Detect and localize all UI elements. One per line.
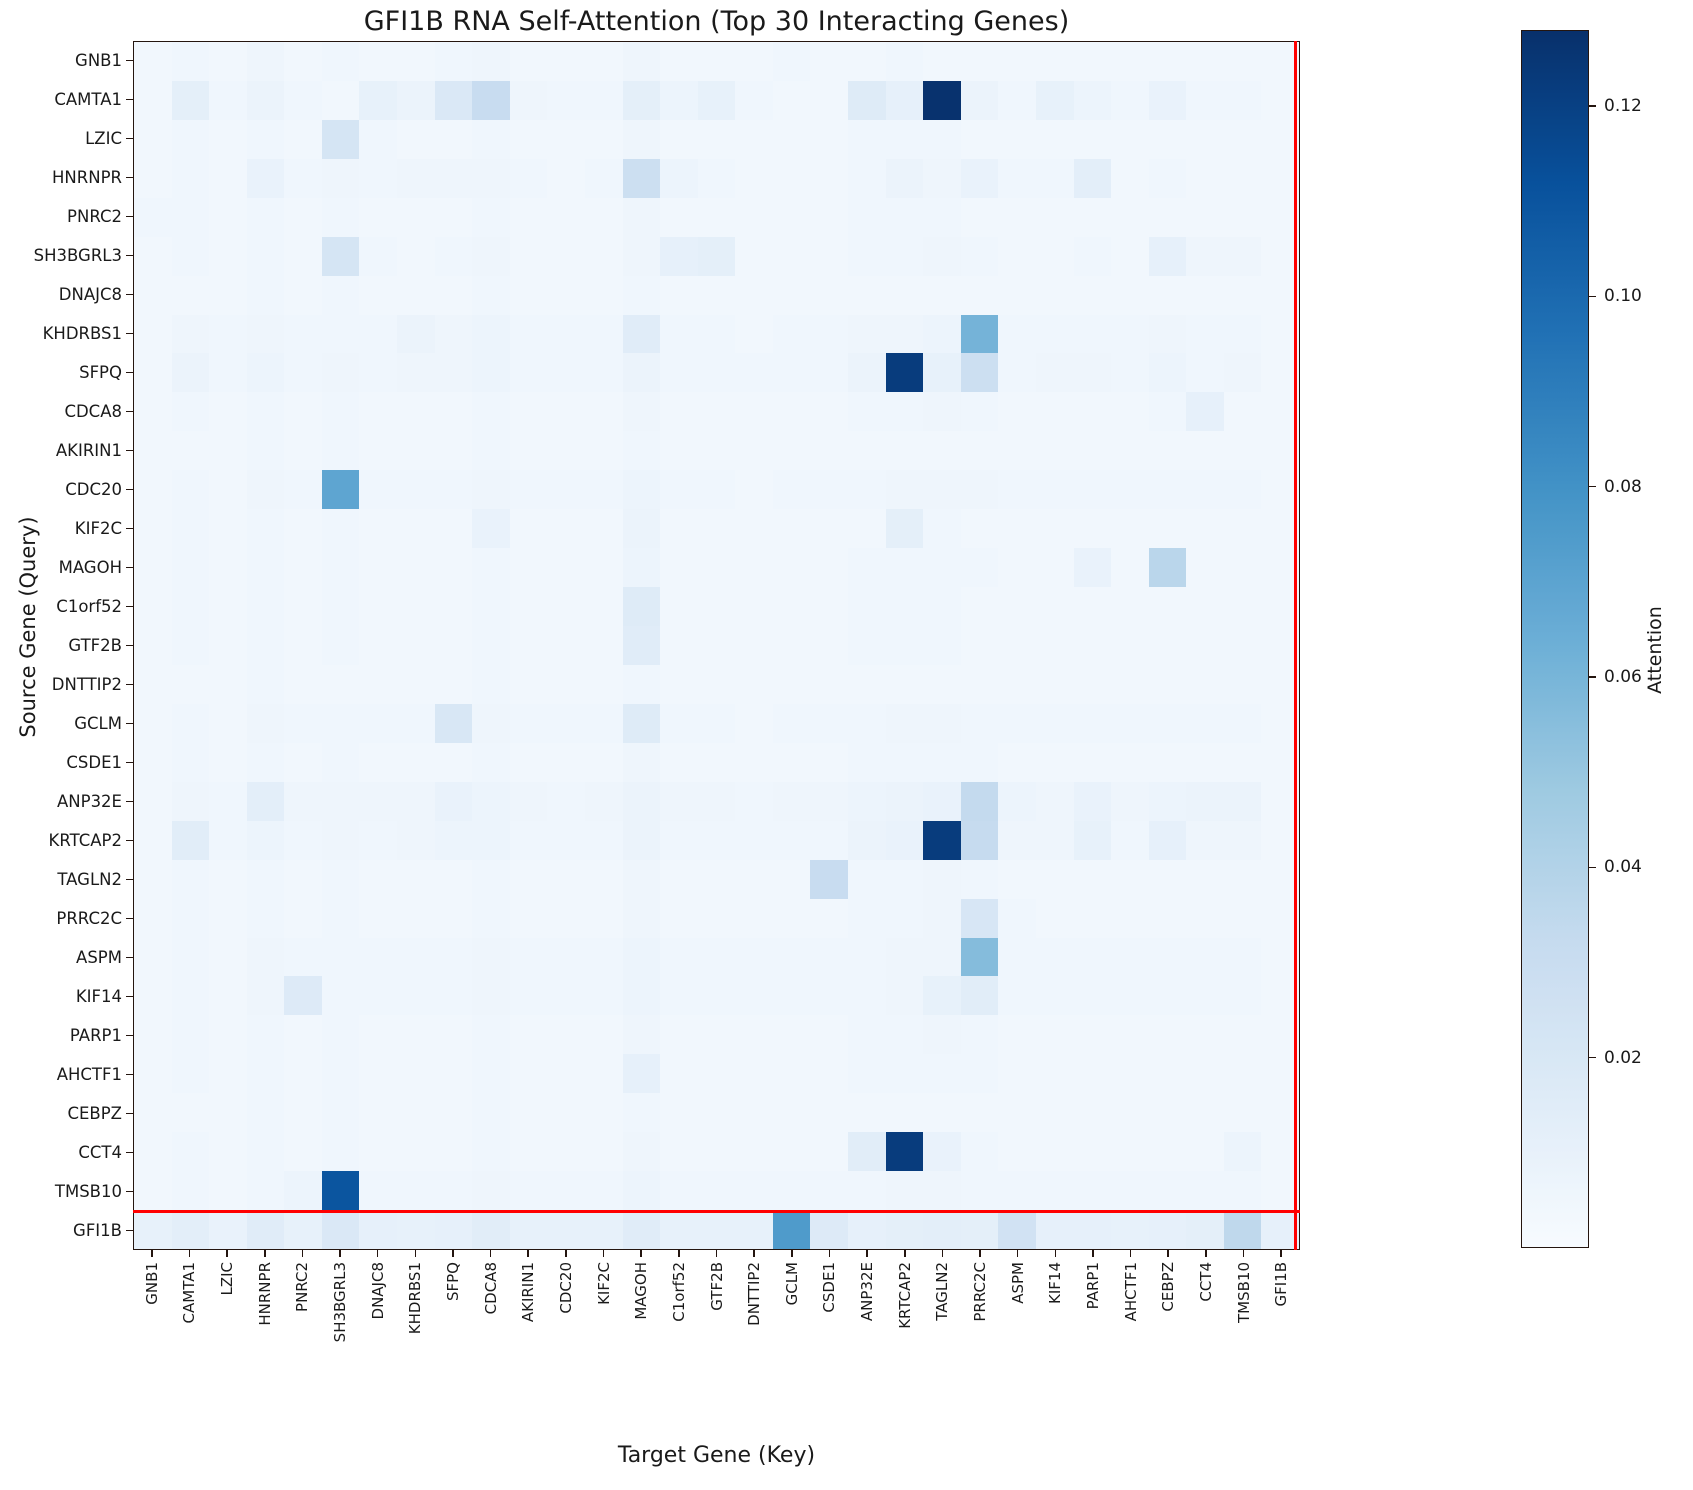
heatmap-cell[interactable] bbox=[1186, 237, 1224, 276]
heatmap-cell[interactable] bbox=[472, 938, 510, 977]
heatmap-cell[interactable] bbox=[1224, 120, 1262, 159]
heatmap-cell[interactable] bbox=[435, 470, 473, 509]
heatmap-cell[interactable] bbox=[284, 392, 322, 431]
heatmap-cell[interactable] bbox=[247, 1015, 285, 1054]
heatmap-cell[interactable] bbox=[547, 1015, 585, 1054]
heatmap-cell[interactable] bbox=[961, 470, 999, 509]
heatmap-cell[interactable] bbox=[923, 665, 961, 704]
heatmap-cell[interactable] bbox=[1111, 1093, 1149, 1132]
heatmap-cell[interactable] bbox=[359, 704, 397, 743]
heatmap-cell[interactable] bbox=[134, 276, 172, 315]
heatmap-cell[interactable] bbox=[1074, 821, 1112, 860]
heatmap-cell[interactable] bbox=[322, 81, 360, 120]
heatmap-cell[interactable] bbox=[810, 587, 848, 626]
heatmap-cell[interactable] bbox=[848, 1171, 886, 1210]
heatmap-cell[interactable] bbox=[322, 548, 360, 587]
heatmap-cell[interactable] bbox=[1224, 938, 1262, 977]
heatmap-cell[interactable] bbox=[172, 976, 210, 1015]
heatmap-cell[interactable] bbox=[623, 626, 661, 665]
heatmap-cell[interactable] bbox=[472, 237, 510, 276]
heatmap-cell[interactable] bbox=[735, 509, 773, 548]
heatmap-cell[interactable] bbox=[1111, 509, 1149, 548]
heatmap-cell[interactable] bbox=[510, 782, 548, 821]
heatmap-cell[interactable] bbox=[397, 392, 435, 431]
heatmap-cell[interactable] bbox=[134, 42, 172, 81]
heatmap-cell[interactable] bbox=[435, 509, 473, 548]
heatmap-cell[interactable] bbox=[1149, 1054, 1187, 1093]
heatmap-cell[interactable] bbox=[134, 665, 172, 704]
heatmap-cell[interactable] bbox=[1149, 860, 1187, 899]
heatmap-cell[interactable] bbox=[1186, 276, 1224, 315]
heatmap-cell[interactable] bbox=[735, 1132, 773, 1171]
heatmap-cell[interactable] bbox=[284, 548, 322, 587]
heatmap-cell[interactable] bbox=[585, 860, 623, 899]
heatmap-cell[interactable] bbox=[998, 198, 1036, 237]
heatmap-cell[interactable] bbox=[547, 120, 585, 159]
heatmap-cell[interactable] bbox=[1149, 1093, 1187, 1132]
heatmap-cell[interactable] bbox=[247, 821, 285, 860]
heatmap-cell[interactable] bbox=[810, 237, 848, 276]
heatmap-cell[interactable] bbox=[172, 1132, 210, 1171]
heatmap-cell[interactable] bbox=[1074, 1171, 1112, 1210]
heatmap-cell[interactable] bbox=[1074, 860, 1112, 899]
heatmap-cell[interactable] bbox=[1149, 392, 1187, 431]
heatmap-cell[interactable] bbox=[547, 315, 585, 354]
heatmap-cell[interactable] bbox=[1036, 743, 1074, 782]
heatmap-cell[interactable] bbox=[1224, 470, 1262, 509]
heatmap-cell[interactable] bbox=[172, 743, 210, 782]
heatmap-cell[interactable] bbox=[1186, 509, 1224, 548]
heatmap-cell[interactable] bbox=[1111, 120, 1149, 159]
heatmap-cell[interactable] bbox=[209, 821, 247, 860]
heatmap-cell[interactable] bbox=[585, 899, 623, 938]
heatmap-cell[interactable] bbox=[1149, 821, 1187, 860]
heatmap-cell[interactable] bbox=[172, 159, 210, 198]
heatmap-cell[interactable] bbox=[209, 198, 247, 237]
heatmap-cell[interactable] bbox=[698, 743, 736, 782]
heatmap-cell[interactable] bbox=[735, 353, 773, 392]
heatmap-cell[interactable] bbox=[1111, 587, 1149, 626]
heatmap-cell[interactable] bbox=[698, 42, 736, 81]
heatmap-cell[interactable] bbox=[998, 899, 1036, 938]
heatmap-cell[interactable] bbox=[585, 626, 623, 665]
heatmap-cell[interactable] bbox=[134, 704, 172, 743]
heatmap-cell[interactable] bbox=[247, 938, 285, 977]
heatmap-cell[interactable] bbox=[284, 353, 322, 392]
heatmap-cell[interactable] bbox=[1186, 42, 1224, 81]
heatmap-cell[interactable] bbox=[284, 821, 322, 860]
heatmap-cell[interactable] bbox=[961, 1210, 999, 1249]
heatmap-cell[interactable] bbox=[1149, 626, 1187, 665]
heatmap-cell[interactable] bbox=[773, 315, 811, 354]
heatmap-cell[interactable] bbox=[660, 120, 698, 159]
heatmap-cell[interactable] bbox=[660, 159, 698, 198]
heatmap-cell[interactable] bbox=[284, 665, 322, 704]
heatmap-cell[interactable] bbox=[1224, 821, 1262, 860]
heatmap-cell[interactable] bbox=[359, 899, 397, 938]
heatmap-cell[interactable] bbox=[585, 938, 623, 977]
heatmap-cell[interactable] bbox=[435, 276, 473, 315]
heatmap-cell[interactable] bbox=[1074, 743, 1112, 782]
heatmap-cell[interactable] bbox=[998, 938, 1036, 977]
heatmap-cell[interactable] bbox=[1074, 392, 1112, 431]
heatmap-cell[interactable] bbox=[923, 1132, 961, 1171]
heatmap-cell[interactable] bbox=[623, 42, 661, 81]
heatmap-cell[interactable] bbox=[1111, 548, 1149, 587]
heatmap-cell[interactable] bbox=[998, 1093, 1036, 1132]
heatmap-cell[interactable] bbox=[209, 782, 247, 821]
heatmap-cell[interactable] bbox=[209, 1093, 247, 1132]
heatmap-cell[interactable] bbox=[623, 431, 661, 470]
heatmap-cell[interactable] bbox=[585, 976, 623, 1015]
heatmap-cell[interactable] bbox=[961, 782, 999, 821]
heatmap-cell[interactable] bbox=[134, 120, 172, 159]
heatmap-cell[interactable] bbox=[1036, 626, 1074, 665]
heatmap-cell[interactable] bbox=[1074, 1054, 1112, 1093]
heatmap-cell[interactable] bbox=[510, 509, 548, 548]
heatmap-cell[interactable] bbox=[209, 431, 247, 470]
heatmap-cell[interactable] bbox=[359, 1015, 397, 1054]
heatmap-cell[interactable] bbox=[810, 392, 848, 431]
heatmap-cell[interactable] bbox=[172, 899, 210, 938]
heatmap-cell[interactable] bbox=[998, 237, 1036, 276]
heatmap-cell[interactable] bbox=[886, 237, 924, 276]
heatmap-cell[interactable] bbox=[547, 470, 585, 509]
heatmap-cell[interactable] bbox=[472, 276, 510, 315]
heatmap-cell[interactable] bbox=[585, 821, 623, 860]
heatmap-cell[interactable] bbox=[848, 899, 886, 938]
heatmap-cell[interactable] bbox=[810, 120, 848, 159]
heatmap-cell[interactable] bbox=[1149, 1210, 1187, 1249]
heatmap-cell[interactable] bbox=[172, 431, 210, 470]
heatmap-cell[interactable] bbox=[1074, 782, 1112, 821]
heatmap-cell[interactable] bbox=[134, 548, 172, 587]
heatmap-cell[interactable] bbox=[660, 743, 698, 782]
heatmap-cell[interactable] bbox=[773, 392, 811, 431]
heatmap-cell[interactable] bbox=[1074, 470, 1112, 509]
heatmap-cell[interactable] bbox=[397, 509, 435, 548]
heatmap-cell[interactable] bbox=[886, 899, 924, 938]
heatmap-cell[interactable] bbox=[623, 1054, 661, 1093]
heatmap-cell[interactable] bbox=[848, 1093, 886, 1132]
heatmap-cell[interactable] bbox=[1224, 1054, 1262, 1093]
heatmap-cell[interactable] bbox=[247, 1054, 285, 1093]
heatmap-cell[interactable] bbox=[247, 782, 285, 821]
heatmap-cell[interactable] bbox=[660, 860, 698, 899]
heatmap-cell[interactable] bbox=[998, 120, 1036, 159]
heatmap-cell[interactable] bbox=[623, 1015, 661, 1054]
heatmap-cell[interactable] bbox=[1111, 198, 1149, 237]
heatmap-cell[interactable] bbox=[585, 237, 623, 276]
heatmap-cell[interactable] bbox=[810, 1054, 848, 1093]
heatmap-cell[interactable] bbox=[547, 353, 585, 392]
heatmap-cell[interactable] bbox=[359, 470, 397, 509]
heatmap-cell[interactable] bbox=[735, 860, 773, 899]
heatmap-cell[interactable] bbox=[886, 1210, 924, 1249]
heatmap-cell[interactable] bbox=[810, 276, 848, 315]
heatmap-cell[interactable] bbox=[1149, 42, 1187, 81]
heatmap-cell[interactable] bbox=[1074, 976, 1112, 1015]
heatmap-cell[interactable] bbox=[660, 392, 698, 431]
heatmap-cell[interactable] bbox=[886, 548, 924, 587]
heatmap-cell[interactable] bbox=[886, 198, 924, 237]
heatmap-cell[interactable] bbox=[359, 1054, 397, 1093]
heatmap-cell[interactable] bbox=[773, 587, 811, 626]
heatmap-cell[interactable] bbox=[397, 626, 435, 665]
heatmap-cell[interactable] bbox=[923, 548, 961, 587]
heatmap-cell[interactable] bbox=[1186, 120, 1224, 159]
heatmap-cell[interactable] bbox=[1149, 587, 1187, 626]
heatmap-cell[interactable] bbox=[848, 1210, 886, 1249]
heatmap-cell[interactable] bbox=[359, 120, 397, 159]
heatmap-cell[interactable] bbox=[359, 159, 397, 198]
heatmap-cell[interactable] bbox=[284, 1054, 322, 1093]
heatmap-cell[interactable] bbox=[247, 120, 285, 159]
heatmap-cell[interactable] bbox=[660, 782, 698, 821]
heatmap-cell[interactable] bbox=[1036, 860, 1074, 899]
heatmap-cell[interactable] bbox=[209, 120, 247, 159]
heatmap-cell[interactable] bbox=[923, 704, 961, 743]
heatmap-cell[interactable] bbox=[773, 899, 811, 938]
heatmap-cell[interactable] bbox=[547, 276, 585, 315]
heatmap-cell[interactable] bbox=[1111, 392, 1149, 431]
heatmap-cell[interactable] bbox=[998, 81, 1036, 120]
heatmap-cell[interactable] bbox=[1186, 1015, 1224, 1054]
heatmap-cell[interactable] bbox=[1036, 938, 1074, 977]
heatmap-cell[interactable] bbox=[773, 860, 811, 899]
heatmap-cell[interactable] bbox=[585, 1132, 623, 1171]
heatmap-cell[interactable] bbox=[660, 509, 698, 548]
heatmap-cell[interactable] bbox=[998, 548, 1036, 587]
heatmap-cell[interactable] bbox=[359, 548, 397, 587]
heatmap-cell[interactable] bbox=[472, 470, 510, 509]
heatmap-cell[interactable] bbox=[547, 198, 585, 237]
heatmap-cell[interactable] bbox=[623, 899, 661, 938]
heatmap-cell[interactable] bbox=[1074, 353, 1112, 392]
heatmap-cell[interactable] bbox=[1074, 1093, 1112, 1132]
heatmap-cell[interactable] bbox=[1036, 509, 1074, 548]
heatmap-cell[interactable] bbox=[472, 899, 510, 938]
heatmap-cell[interactable] bbox=[359, 782, 397, 821]
heatmap-cell[interactable] bbox=[322, 42, 360, 81]
heatmap-cell[interactable] bbox=[886, 159, 924, 198]
heatmap-cell[interactable] bbox=[698, 120, 736, 159]
heatmap-cell[interactable] bbox=[172, 821, 210, 860]
heatmap-cell[interactable] bbox=[1036, 237, 1074, 276]
heatmap-cell[interactable] bbox=[172, 353, 210, 392]
heatmap-cell[interactable] bbox=[547, 548, 585, 587]
heatmap-cell[interactable] bbox=[773, 782, 811, 821]
heatmap-cell[interactable] bbox=[1224, 976, 1262, 1015]
heatmap-cell[interactable] bbox=[359, 1132, 397, 1171]
heatmap-cell[interactable] bbox=[810, 860, 848, 899]
heatmap-cell[interactable] bbox=[209, 860, 247, 899]
heatmap-cell[interactable] bbox=[1186, 821, 1224, 860]
heatmap-cell[interactable] bbox=[247, 470, 285, 509]
heatmap-cell[interactable] bbox=[435, 237, 473, 276]
heatmap-cell[interactable] bbox=[472, 1171, 510, 1210]
heatmap-cell[interactable] bbox=[1224, 860, 1262, 899]
heatmap-cell[interactable] bbox=[209, 42, 247, 81]
heatmap-cell[interactable] bbox=[510, 1054, 548, 1093]
heatmap-cell[interactable] bbox=[209, 392, 247, 431]
heatmap-cell[interactable] bbox=[735, 938, 773, 977]
heatmap-cell[interactable] bbox=[773, 1093, 811, 1132]
heatmap-cell[interactable] bbox=[209, 237, 247, 276]
heatmap-cell[interactable] bbox=[510, 42, 548, 81]
heatmap-cell[interactable] bbox=[961, 704, 999, 743]
heatmap-cell[interactable] bbox=[1074, 1015, 1112, 1054]
heatmap-cell[interactable] bbox=[1036, 159, 1074, 198]
heatmap-cell[interactable] bbox=[547, 431, 585, 470]
heatmap-cell[interactable] bbox=[1036, 120, 1074, 159]
heatmap-cell[interactable] bbox=[397, 159, 435, 198]
heatmap-cell[interactable] bbox=[172, 42, 210, 81]
heatmap-cell[interactable] bbox=[247, 1093, 285, 1132]
heatmap-cell[interactable] bbox=[435, 1132, 473, 1171]
heatmap-cell[interactable] bbox=[547, 159, 585, 198]
heatmap-cell[interactable] bbox=[397, 860, 435, 899]
heatmap-cell[interactable] bbox=[472, 1054, 510, 1093]
heatmap-cell[interactable] bbox=[510, 159, 548, 198]
heatmap-cell[interactable] bbox=[472, 860, 510, 899]
heatmap-cell[interactable] bbox=[923, 938, 961, 977]
heatmap-cell[interactable] bbox=[585, 120, 623, 159]
heatmap-cell[interactable] bbox=[359, 81, 397, 120]
heatmap-cell[interactable] bbox=[247, 1210, 285, 1249]
heatmap-cell[interactable] bbox=[886, 353, 924, 392]
heatmap-cell[interactable] bbox=[848, 1132, 886, 1171]
heatmap-cell[interactable] bbox=[886, 704, 924, 743]
heatmap-cell[interactable] bbox=[585, 509, 623, 548]
heatmap-cell[interactable] bbox=[134, 860, 172, 899]
heatmap-cell[interactable] bbox=[209, 159, 247, 198]
heatmap-cell[interactable] bbox=[660, 1054, 698, 1093]
heatmap-cell[interactable] bbox=[773, 548, 811, 587]
heatmap-cell[interactable] bbox=[961, 976, 999, 1015]
heatmap-cell[interactable] bbox=[848, 1054, 886, 1093]
heatmap-cell[interactable] bbox=[472, 120, 510, 159]
heatmap-cell[interactable] bbox=[1224, 81, 1262, 120]
heatmap-cell[interactable] bbox=[698, 1171, 736, 1210]
heatmap-cell[interactable] bbox=[1149, 1171, 1187, 1210]
heatmap-cell[interactable] bbox=[172, 860, 210, 899]
heatmap-cell[interactable] bbox=[886, 743, 924, 782]
heatmap-cell[interactable] bbox=[1036, 81, 1074, 120]
heatmap-cell[interactable] bbox=[735, 665, 773, 704]
heatmap-cell[interactable] bbox=[547, 1210, 585, 1249]
heatmap-cell[interactable] bbox=[435, 704, 473, 743]
heatmap-cell[interactable] bbox=[397, 120, 435, 159]
heatmap-cell[interactable] bbox=[585, 198, 623, 237]
heatmap-cell[interactable] bbox=[886, 81, 924, 120]
heatmap-cell[interactable] bbox=[1186, 860, 1224, 899]
heatmap-cell[interactable] bbox=[998, 1210, 1036, 1249]
heatmap-cell[interactable] bbox=[472, 1210, 510, 1249]
heatmap-cell[interactable] bbox=[322, 626, 360, 665]
heatmap-cell[interactable] bbox=[397, 198, 435, 237]
heatmap-cell[interactable] bbox=[923, 1015, 961, 1054]
heatmap-cell[interactable] bbox=[247, 1132, 285, 1171]
heatmap-cell[interactable] bbox=[209, 743, 247, 782]
heatmap-cell[interactable] bbox=[397, 431, 435, 470]
heatmap-cell[interactable] bbox=[585, 392, 623, 431]
heatmap-cell[interactable] bbox=[209, 548, 247, 587]
heatmap-cell[interactable] bbox=[1224, 237, 1262, 276]
heatmap-cell[interactable] bbox=[359, 431, 397, 470]
heatmap-cell[interactable] bbox=[510, 704, 548, 743]
heatmap-cell[interactable] bbox=[1224, 353, 1262, 392]
heatmap-cell[interactable] bbox=[810, 938, 848, 977]
heatmap-cell[interactable] bbox=[660, 821, 698, 860]
heatmap-cell[interactable] bbox=[773, 626, 811, 665]
heatmap-cell[interactable] bbox=[1224, 509, 1262, 548]
heatmap-cell[interactable] bbox=[1186, 353, 1224, 392]
heatmap-cell[interactable] bbox=[623, 198, 661, 237]
heatmap-cell[interactable] bbox=[172, 276, 210, 315]
heatmap-cell[interactable] bbox=[810, 821, 848, 860]
heatmap-cell[interactable] bbox=[359, 587, 397, 626]
heatmap-cell[interactable] bbox=[1111, 470, 1149, 509]
heatmap-cell[interactable] bbox=[623, 704, 661, 743]
heatmap-cell[interactable] bbox=[172, 198, 210, 237]
heatmap-cell[interactable] bbox=[1074, 198, 1112, 237]
heatmap-cell[interactable] bbox=[1149, 431, 1187, 470]
heatmap-cell[interactable] bbox=[172, 782, 210, 821]
heatmap-cell[interactable] bbox=[1224, 587, 1262, 626]
heatmap-cell[interactable] bbox=[435, 587, 473, 626]
heatmap-cell[interactable] bbox=[510, 120, 548, 159]
heatmap-cell[interactable] bbox=[1149, 976, 1187, 1015]
heatmap-cell[interactable] bbox=[886, 821, 924, 860]
heatmap-cell[interactable] bbox=[623, 548, 661, 587]
heatmap-cell[interactable] bbox=[1186, 782, 1224, 821]
heatmap-cell[interactable] bbox=[172, 548, 210, 587]
heatmap-cell[interactable] bbox=[1074, 81, 1112, 120]
heatmap-cell[interactable] bbox=[134, 81, 172, 120]
heatmap-cell[interactable] bbox=[886, 42, 924, 81]
heatmap-cell[interactable] bbox=[435, 353, 473, 392]
heatmap-cell[interactable] bbox=[1186, 587, 1224, 626]
heatmap-cell[interactable] bbox=[284, 743, 322, 782]
heatmap-cell[interactable] bbox=[848, 509, 886, 548]
heatmap-cell[interactable] bbox=[848, 81, 886, 120]
heatmap-cell[interactable] bbox=[1036, 821, 1074, 860]
heatmap-cell[interactable] bbox=[247, 81, 285, 120]
heatmap-cell[interactable] bbox=[810, 42, 848, 81]
heatmap-cell[interactable] bbox=[961, 743, 999, 782]
heatmap-cell[interactable] bbox=[1111, 1171, 1149, 1210]
heatmap-cell[interactable] bbox=[1036, 470, 1074, 509]
heatmap-cell[interactable] bbox=[810, 159, 848, 198]
heatmap-cell[interactable] bbox=[359, 276, 397, 315]
heatmap-cell[interactable] bbox=[1224, 1093, 1262, 1132]
heatmap-cell[interactable] bbox=[1111, 237, 1149, 276]
heatmap-cell[interactable] bbox=[848, 159, 886, 198]
heatmap-cell[interactable] bbox=[1074, 704, 1112, 743]
heatmap-cell[interactable] bbox=[961, 81, 999, 120]
heatmap-cell[interactable] bbox=[1074, 237, 1112, 276]
heatmap-cell[interactable] bbox=[322, 743, 360, 782]
heatmap-cell[interactable] bbox=[660, 1093, 698, 1132]
heatmap-cell[interactable] bbox=[435, 782, 473, 821]
heatmap-cell[interactable] bbox=[1074, 587, 1112, 626]
heatmap-cell[interactable] bbox=[886, 120, 924, 159]
heatmap-cell[interactable] bbox=[435, 1171, 473, 1210]
heatmap-cell[interactable] bbox=[623, 743, 661, 782]
heatmap-cell[interactable] bbox=[172, 1171, 210, 1210]
heatmap-cell[interactable] bbox=[698, 821, 736, 860]
